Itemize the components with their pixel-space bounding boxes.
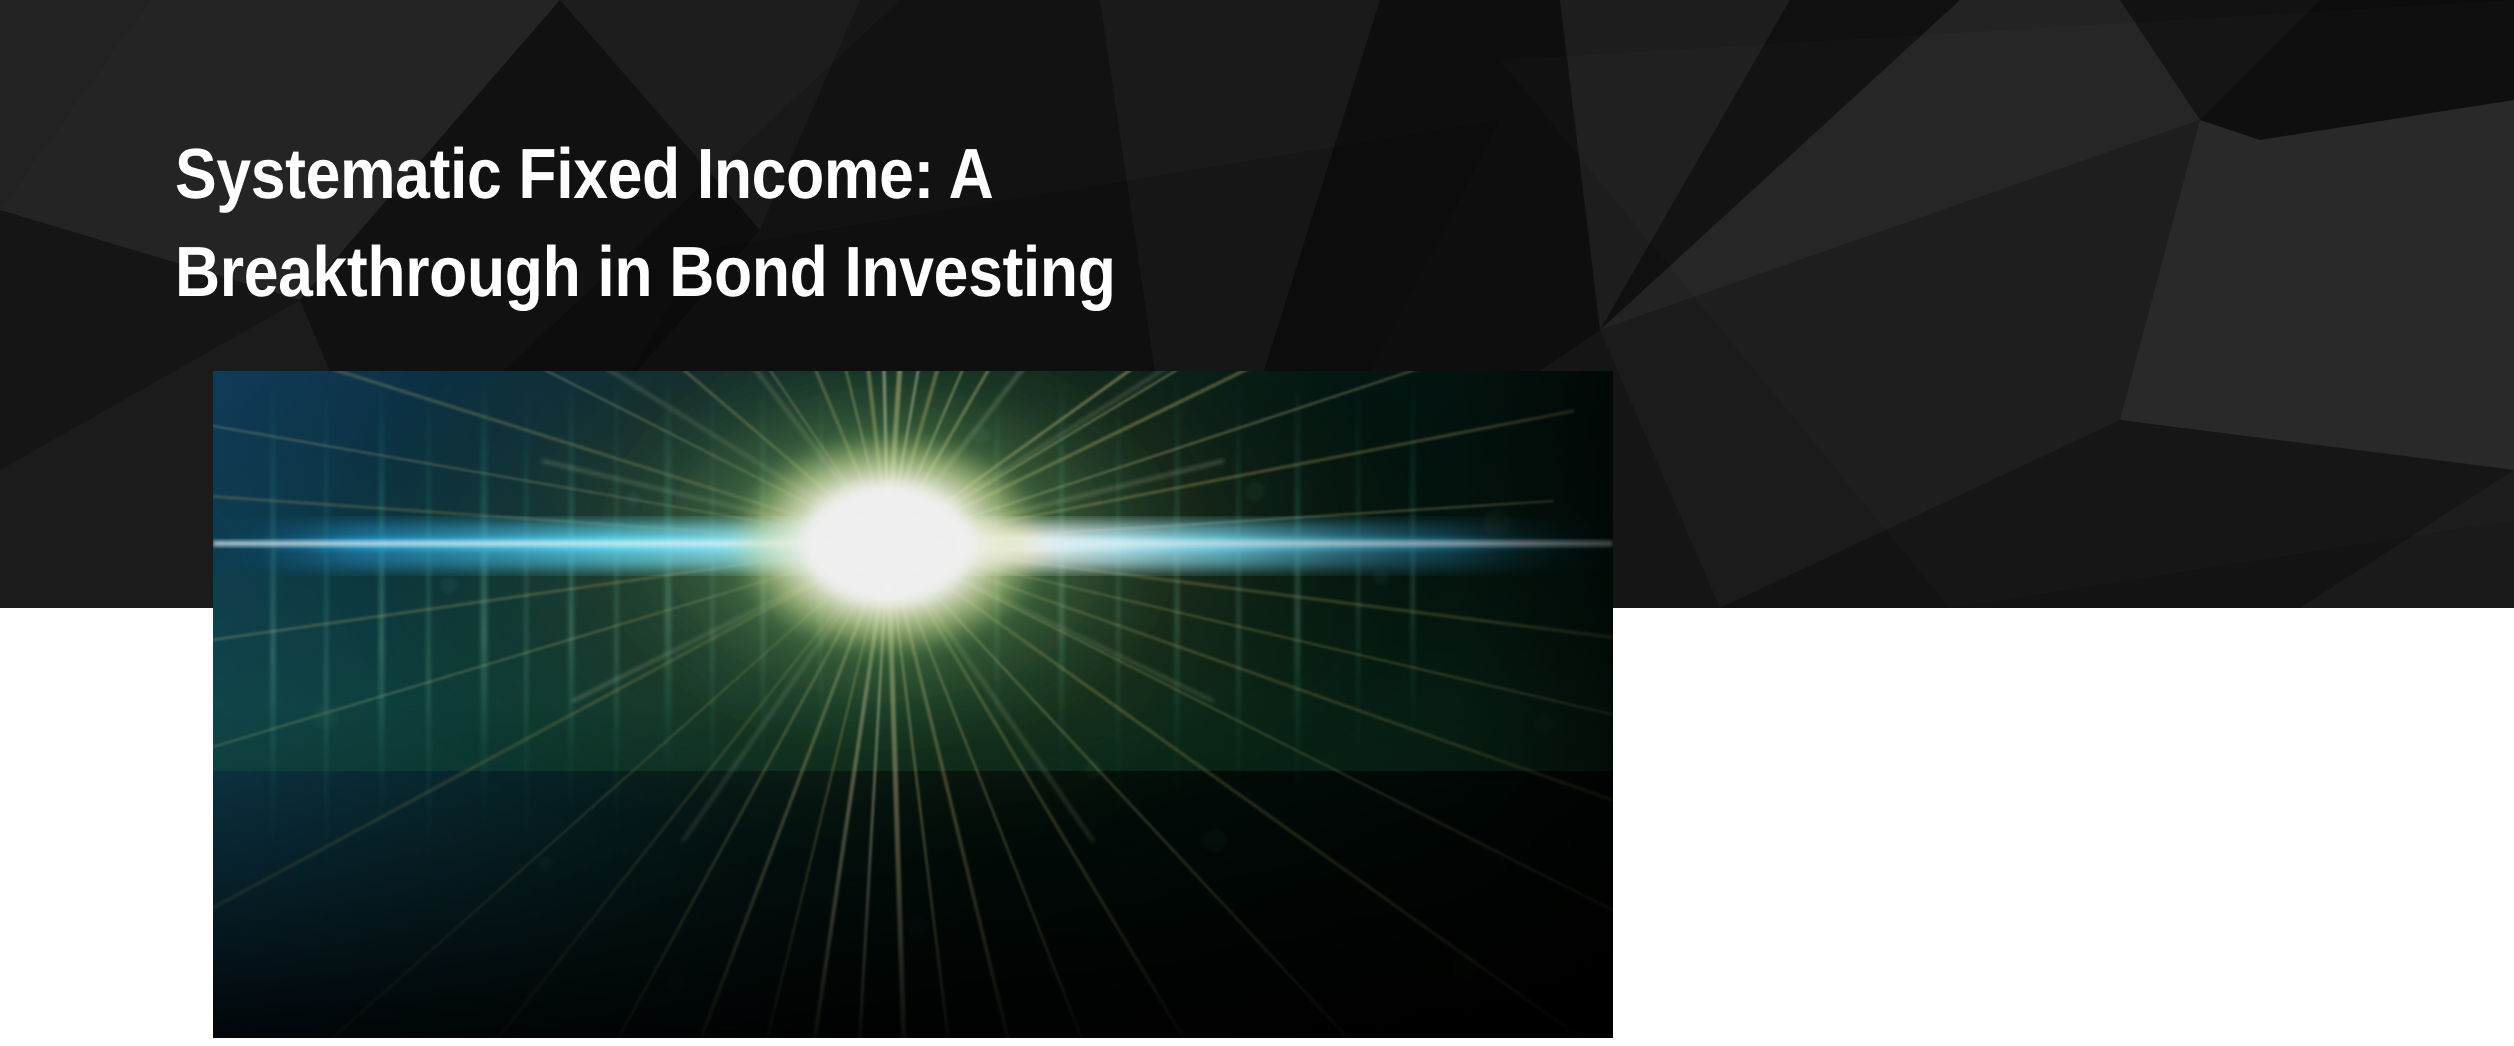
flare-graphic [213, 371, 1613, 1038]
slide-canvas: Systematic Fixed Income: A Breakthrough … [0, 0, 2514, 1046]
page-title: Systematic Fixed Income: A Breakthrough … [175, 126, 1354, 322]
lens-flare-starburst-image [213, 371, 1613, 1038]
